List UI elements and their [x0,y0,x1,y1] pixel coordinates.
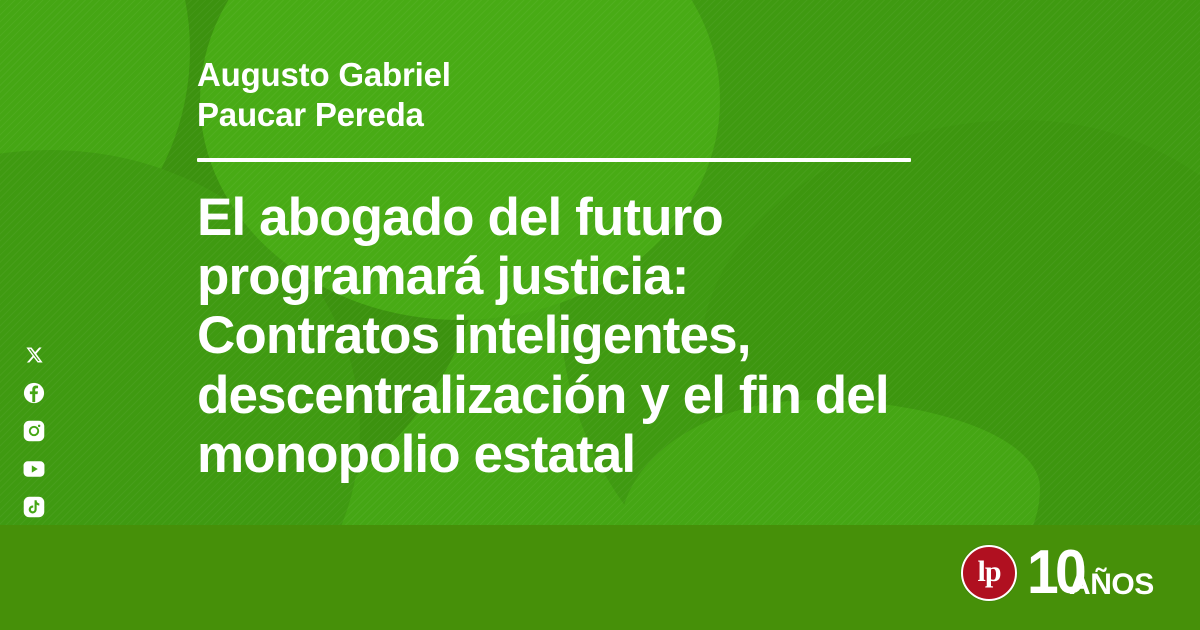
lp-monogram-text: lp [978,557,1001,587]
headline-title: El abogado del futuro programará justici… [197,188,897,485]
divider-rule [197,158,911,162]
instagram-icon [23,420,45,442]
social-share-card: Augusto Gabriel Paucar Pereda El abogado… [0,0,1200,630]
content-block: Augusto Gabriel Paucar Pereda El abogado… [197,0,957,520]
lp-monogram-mark: lp [961,545,1017,601]
social-link-facebook[interactable] [21,380,47,406]
social-link-instagram[interactable] [21,418,47,444]
brand-logo[interactable]: lp 10 AÑOS [961,542,1088,604]
social-link-x[interactable] [21,342,47,368]
youtube-icon [23,460,45,478]
author-name-line-2: Paucar Pereda [197,95,627,135]
anniversary-badge: 10 AÑOS [1027,542,1088,604]
social-rail [19,342,49,520]
social-link-tiktok[interactable] [21,494,47,520]
social-link-youtube[interactable] [21,456,47,482]
author-name-line-1: Augusto Gabriel [197,55,627,95]
anniversary-word: AÑOS [1069,570,1154,600]
facebook-icon [23,382,45,404]
author-name: Augusto Gabriel Paucar Pereda [197,55,627,136]
x-twitter-icon [25,346,43,364]
tiktok-icon [23,496,45,518]
